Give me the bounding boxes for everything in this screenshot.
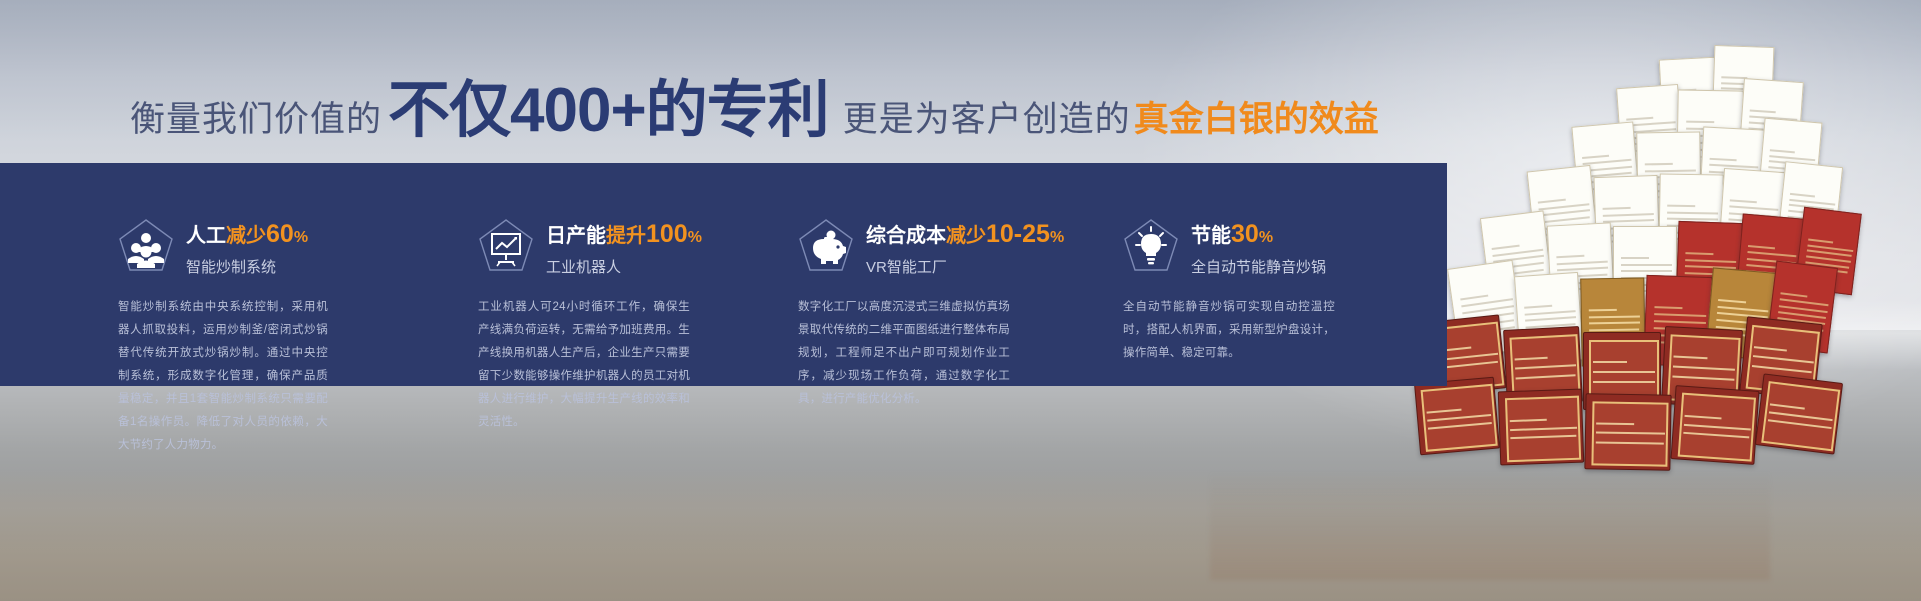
feature-description: 数字化工厂以高度沉浸式三维虚拟仿真场景取代传统的二维平面图纸进行整体布局规划，工… [798, 296, 1010, 411]
feature-subtitle: 工业机器人 [546, 256, 702, 277]
feature-title-percent: % [294, 229, 308, 246]
certificate-text-line [1539, 203, 1590, 210]
feature-subtitle: VR智能工厂 [866, 256, 1064, 277]
feature-title-number: 100 [646, 220, 688, 248]
certificate-text-line [1718, 299, 1746, 303]
certificate-text-line [1645, 169, 1696, 172]
certificate-text-line [1557, 267, 1607, 272]
certificate-text-line [1686, 121, 1715, 124]
certificate-text-line [1557, 255, 1585, 258]
certificate-text-line [1589, 322, 1639, 325]
certificate-text-line [1668, 205, 1696, 207]
certificate-text-line [1808, 238, 1833, 243]
feature-title-main: 人工 [186, 225, 226, 247]
feature-title-main: 综合成本 [866, 225, 946, 247]
piggy-bank-icon [798, 218, 854, 278]
certificate-text-line [1538, 199, 1566, 204]
certificate-text-line [1557, 260, 1608, 265]
feature-header: 节能30% 全自动节能静音炒锅 [1123, 218, 1398, 278]
certificate-text-line [1730, 199, 1757, 203]
feature-item-energy[interactable]: 节能30% 全自动节能静音炒锅 全自动节能静音炒锅可实现自动控温控时，搭配人机界… [1123, 163, 1398, 386]
certificate-text-line [1590, 329, 1640, 332]
certificate-text-line [1582, 155, 1609, 159]
certificate-text-line [1540, 216, 1590, 223]
feature-header: 综合成本减少10-25% VR智能工厂 [798, 218, 1078, 278]
feature-title-percent: % [1259, 229, 1273, 246]
feature-title-percent: % [1050, 229, 1064, 246]
certificate-text-line [1626, 117, 1653, 121]
feature-description: 全自动节能静音炒锅可实现自动控温控时，搭配人机界面，采用新型炉盘设计，操作简单、… [1123, 296, 1335, 365]
feature-title-main: 日产能 [546, 225, 606, 247]
feature-title: 日产能提升100% [546, 219, 702, 250]
feature-titles: 日产能提升100% 工业机器人 [546, 219, 702, 277]
certificate-thumbnail [1671, 385, 1760, 465]
certificate-text-line [1750, 109, 1776, 113]
certificate-text-line [1654, 306, 1683, 309]
certificate-text-line [1603, 219, 1653, 223]
feature-titles: 人工减少60% 智能炒制系统 [186, 219, 308, 277]
feature-title-word: 提升 [606, 225, 646, 247]
feature-item-cost[interactable]: 综合成本减少10-25% VR智能工厂 数字化工厂以高度沉浸式三维虚拟仿真场景取… [798, 163, 1078, 386]
certificate-text-line [1686, 252, 1714, 255]
feature-panel: 人工减少60% 智能炒制系统 智能炒制系统由中央系统控制，采用机器人抓取投料，运… [0, 163, 1447, 386]
feature-header: 人工减少60% 智能炒制系统 [118, 218, 418, 278]
feature-title-main: 节能 [1191, 225, 1231, 247]
feature-item-capacity[interactable]: 日产能提升100% 工业机器人 工业机器人可24小时循环工作，确保生产线满负荷运… [478, 163, 753, 386]
certificate-text-line [1593, 381, 1655, 383]
feature-title: 节能30% [1191, 219, 1326, 250]
chart-board-icon [478, 218, 534, 278]
certificate-thumbnail [1584, 393, 1671, 470]
certificate-text-line [1492, 245, 1520, 250]
certificate-text-line [1621, 257, 1649, 259]
certificate-text-line [1668, 211, 1719, 214]
headline-accent: 真金白银的效益 [1131, 102, 1379, 137]
feature-titles: 节能30% 全自动节能静音炒锅 [1191, 219, 1326, 277]
feature-title: 人工减少60% [186, 219, 308, 250]
certificate-text-line [1526, 316, 1576, 321]
certificate-text-line [1645, 163, 1673, 165]
certificates-reflection [1210, 470, 1770, 580]
feature-title-number: 10-25 [986, 220, 1050, 248]
certificate-thumbnail [1755, 373, 1843, 454]
headline-middle: 更是为客户创造的 [835, 102, 1131, 137]
feature-title-number: 30 [1231, 220, 1259, 248]
feature-title-word: 减少 [226, 225, 266, 247]
certificate-text-line [1460, 295, 1489, 301]
certificate-text-line [1790, 193, 1815, 198]
certificate-text-line [1769, 155, 1815, 161]
certificate-text-line [1654, 320, 1706, 324]
certificate-thumbnail [1414, 377, 1500, 456]
page-headline: 衡量我们价值的 不仅400+的专利 更是为客户创造的 真金白银的效益 [130, 80, 1379, 142]
feature-list: 人工减少60% 智能炒制系统 智能炒制系统由中央系统控制，采用机器人抓取投料，运… [0, 163, 1447, 386]
feature-title: 综合成本减少10-25% [866, 219, 1064, 250]
certificate-text-line [1589, 309, 1617, 311]
certificate-thumbnail [1498, 389, 1585, 466]
people-group-icon [118, 218, 174, 278]
certificate-text-line [1621, 264, 1672, 266]
certificate-text-line [1748, 245, 1775, 249]
headline-prefix: 衡量我们价值的 [130, 102, 382, 137]
certificate-text-line [1621, 270, 1671, 272]
certificate-text-line [1769, 149, 1794, 153]
banner-stage: 衡量我们价值的 不仅400+的专利 更是为客户创造的 真金白银的效益 [0, 0, 1921, 601]
certificate-text-line [1603, 207, 1631, 210]
feature-title-percent: % [688, 229, 702, 246]
feature-titles: 综合成本减少10-25% VR智能工厂 [866, 219, 1064, 277]
feature-subtitle: 全自动节能静音炒锅 [1191, 256, 1326, 277]
headline-emphasis: 不仅400+的专利 [382, 80, 835, 142]
certificate-text-line [1540, 210, 1590, 217]
certificate-text-line [1525, 305, 1553, 309]
certificate-text-line [1603, 213, 1654, 217]
certificate-text-line [1686, 259, 1737, 263]
feature-description: 智能炒制系统由中央系统控制，采用机器人抓取投料，运用炒制釜/密闭式炒锅替代传统开… [118, 296, 328, 457]
certificate-text-line [1667, 218, 1717, 221]
certificate-text-line [1729, 206, 1778, 211]
certificate-text-line [1781, 292, 1808, 297]
certificate-text-line [1593, 371, 1655, 373]
certificate-text-line [1718, 306, 1769, 312]
certificate-text-line [1525, 310, 1576, 316]
feature-title-number: 60 [266, 220, 294, 248]
feature-item-labor[interactable]: 人工减少60% 智能炒制系统 智能炒制系统由中央系统控制，采用机器人抓取投料，运… [118, 163, 418, 386]
feature-header: 日产能提升100% 工业机器人 [478, 218, 753, 278]
feature-title-word: 减少 [946, 225, 986, 247]
certificate-text-line [1627, 122, 1676, 127]
certificate-text-line [1589, 315, 1640, 318]
certificate-text-line [1710, 158, 1737, 161]
feature-description: 工业机器人可24小时循环工作，确保生产线满负荷运转，无需给予加班费用。生产线换用… [478, 296, 690, 434]
certificate-text-line [1654, 313, 1707, 317]
certificate-text-line [1593, 361, 1627, 363]
lightbulb-icon [1123, 218, 1179, 278]
feature-subtitle: 智能炒制系统 [186, 256, 308, 277]
certificate-text-line [1748, 251, 1797, 257]
